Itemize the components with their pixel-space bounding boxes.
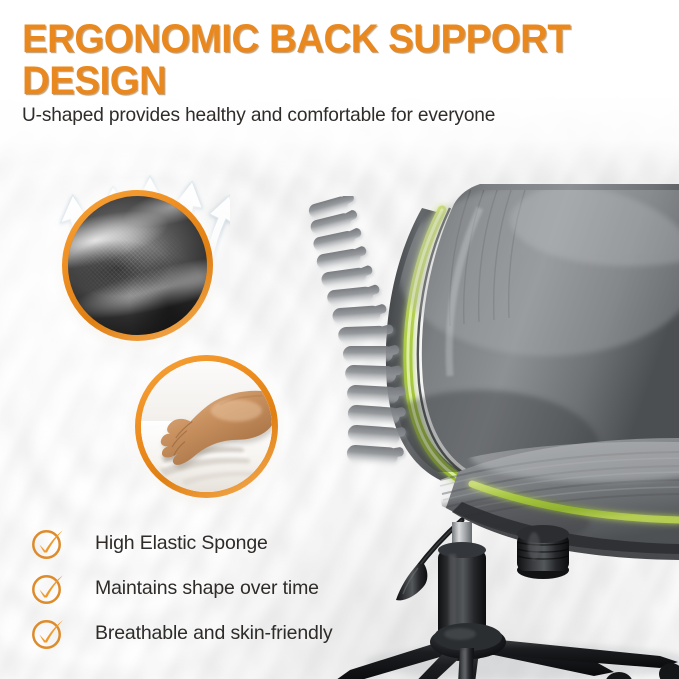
check-circle-icon <box>30 525 66 561</box>
inset-photo-foam <box>141 361 272 492</box>
feature-item: Breathable and skin-friendly <box>30 614 490 652</box>
fabric-texture-art <box>68 196 207 335</box>
feature-label: Maintains shape over time <box>95 577 319 600</box>
page-title: ERGONOMIC BACK SUPPORT DESIGN <box>22 18 617 102</box>
fabric-weave-mesh <box>68 196 207 335</box>
check-circle-icon <box>30 615 66 651</box>
feature-item: High Elastic Sponge <box>30 524 490 562</box>
hand-and-impression <box>141 361 272 492</box>
feature-label: Breathable and skin-friendly <box>95 622 333 645</box>
memory-foam-handprint <box>135 355 278 498</box>
inset-photo-fabric <box>68 196 207 335</box>
feature-item: Maintains shape over time <box>30 569 490 607</box>
vertebra-stack <box>307 196 406 465</box>
feature-label: High Elastic Sponge <box>95 532 268 555</box>
check-circle-icon <box>30 570 66 606</box>
breathable-fabric-closeup <box>62 190 213 341</box>
human-spine-vertebrae <box>296 196 436 486</box>
infographic-canvas: ERGONOMIC BACK SUPPORT DESIGN U-shaped p… <box>0 0 679 679</box>
tension-knob <box>517 525 569 579</box>
page-subtitle: U-shaped provides healthy and comfortabl… <box>22 104 649 127</box>
foam-art <box>141 361 272 492</box>
